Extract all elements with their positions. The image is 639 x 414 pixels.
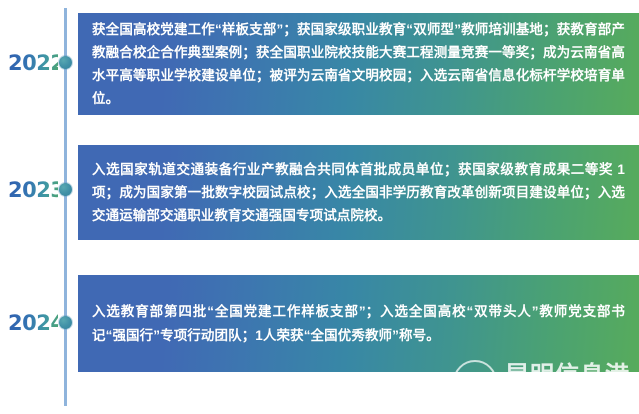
timeline-card-text: 入选教育部第四批“全国党建工作样板支部”；入选全国高校“双带头人”教师党支部书记…	[78, 300, 639, 346]
timeline-year-2022: 2022	[8, 51, 58, 75]
timeline-year-2023: 2023	[8, 178, 58, 202]
timeline-year-2024: 2024	[8, 311, 58, 335]
timeline-infographic: 2022 获全国高校党建工作“样板支部”；获国家级职业教育“双师型”教师培训基地…	[0, 0, 639, 414]
timeline-row: 2023 入选国家轨道交通装备行业产教融合共同体首批成员单位；获国家级教育成果二…	[0, 145, 639, 240]
timeline-node-dot	[59, 316, 72, 329]
timeline-node-dot	[59, 56, 72, 69]
watermark-url: www.kunming.cn	[505, 390, 630, 401]
timeline-card-text: 获全国高校党建工作“样板支部”；获国家级职业教育“双师型”教师培训基地；获教育部…	[78, 18, 639, 111]
timeline-card-2023: 入选国家轨道交通装备行业产教融合共同体首批成员单位；获国家级教育成果二等奖 1 …	[78, 145, 639, 240]
timeline-card-2022: 获全国高校党建工作“样板支部”；获国家级职业教育“双师型”教师培训基地；获教育部…	[78, 13, 639, 115]
timeline-node-dot	[59, 183, 72, 196]
timeline-card-2024: 入选教育部第四批“全国党建工作样板支部”；入选全国高校“双带头人”教师党支部书记…	[78, 275, 639, 372]
timeline-row: 2024 入选教育部第四批“全国党建工作样板支部”；入选全国高校“双带头人”教师…	[0, 275, 639, 372]
timeline-card-text: 入选国家轨道交通装备行业产教融合共同体首批成员单位；获国家级教育成果二等奖 1 …	[78, 158, 639, 228]
timeline-row: 2022 获全国高校党建工作“样板支部”；获国家级职业教育“双师型”教师培训基地…	[0, 13, 639, 115]
